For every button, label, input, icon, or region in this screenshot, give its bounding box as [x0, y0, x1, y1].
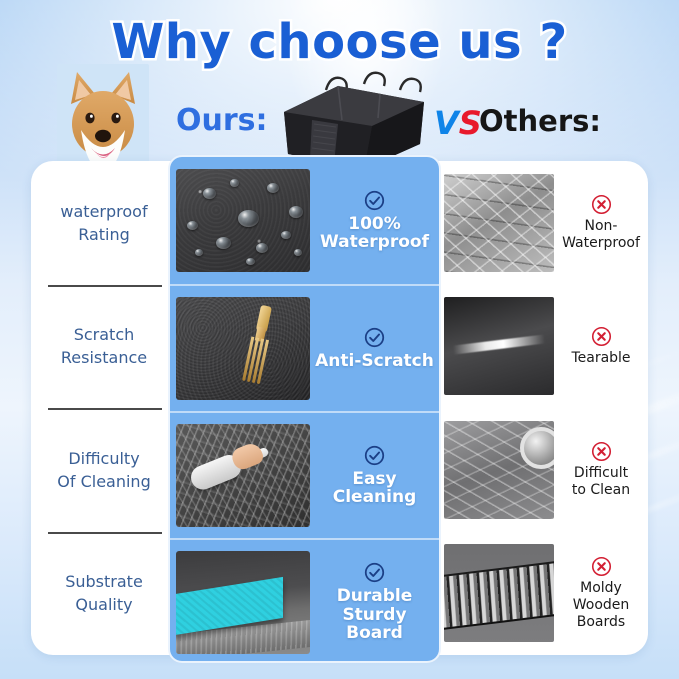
- others-row-substrate: Moldy WoodenBoards: [441, 532, 648, 656]
- criteria-row: waterproofRating: [40, 161, 168, 285]
- others-thumbnail-scratched-surface: [444, 421, 554, 519]
- ours-thumbnail-teal-board: [176, 551, 310, 654]
- others-drawback: Tearable: [554, 326, 648, 367]
- criteria-row: SubstrateQuality: [40, 532, 168, 656]
- ours-thumbnail-water-droplets: [176, 169, 310, 272]
- others-thumbnail-moldy-boards: [444, 544, 554, 642]
- criteria-label: waterproofRating: [60, 200, 147, 246]
- others-drawback: Moldy WoodenBoards: [554, 556, 648, 631]
- ours-thumbnail-fork-leather: [176, 297, 310, 400]
- ours-panel: 100%Waterproof Anti-Scratch: [168, 155, 441, 663]
- others-label: Others:: [479, 104, 601, 138]
- others-row-scratch: Tearable: [441, 285, 648, 409]
- criteria-label: SubstrateQuality: [65, 570, 143, 616]
- criteria-column: waterproofRating ScratchResistance Diffi…: [40, 161, 168, 655]
- criteria-row: ScratchResistance: [40, 285, 168, 409]
- infographic-canvas: Why choose us ? Ours:: [0, 0, 679, 679]
- ours-row-waterproof: 100%Waterproof: [170, 157, 439, 284]
- ours-row-cleaning: EasyCleaning: [170, 411, 439, 538]
- ours-label: Ours:: [176, 103, 268, 138]
- check-circle-icon: [364, 562, 385, 583]
- corgi-dog-icon: [57, 64, 149, 172]
- others-thumbnail-cracked-surface: [444, 174, 554, 272]
- criteria-row: DifficultyOf Cleaning: [40, 408, 168, 532]
- others-row-waterproof: Non-Waterproof: [441, 161, 648, 285]
- vs-badge: VS: [434, 104, 482, 142]
- check-circle-icon: [364, 445, 385, 466]
- cross-circle-icon: [591, 326, 612, 347]
- vs-letter-v: V: [434, 104, 459, 142]
- cross-circle-icon: [591, 441, 612, 462]
- page-title: Why choose us ?: [0, 14, 679, 70]
- cross-circle-icon: [591, 194, 612, 215]
- ours-thumbnail-lint-brush: [176, 424, 310, 527]
- ours-benefit: 100%Waterproof: [310, 190, 439, 252]
- others-thumbnail-torn-fabric: [444, 297, 554, 395]
- cross-circle-icon: [591, 556, 612, 577]
- others-row-cleaning: Difficultto Clean: [441, 408, 648, 532]
- ours-row-scratch: Anti-Scratch: [170, 284, 439, 411]
- others-drawback: Non-Waterproof: [554, 194, 648, 252]
- criteria-label: DifficultyOf Cleaning: [57, 447, 150, 493]
- others-drawback: Difficultto Clean: [554, 441, 648, 499]
- ours-benefit: DurableSturdy Board: [310, 562, 439, 642]
- check-circle-icon: [364, 190, 385, 211]
- criteria-label: ScratchResistance: [61, 323, 147, 369]
- ours-row-substrate: DurableSturdy Board: [170, 538, 439, 663]
- others-column: Non-Waterproof Tearable: [441, 161, 648, 655]
- ours-benefit: Anti-Scratch: [310, 327, 439, 370]
- check-circle-icon: [364, 327, 385, 348]
- ours-benefit: EasyCleaning: [310, 445, 439, 507]
